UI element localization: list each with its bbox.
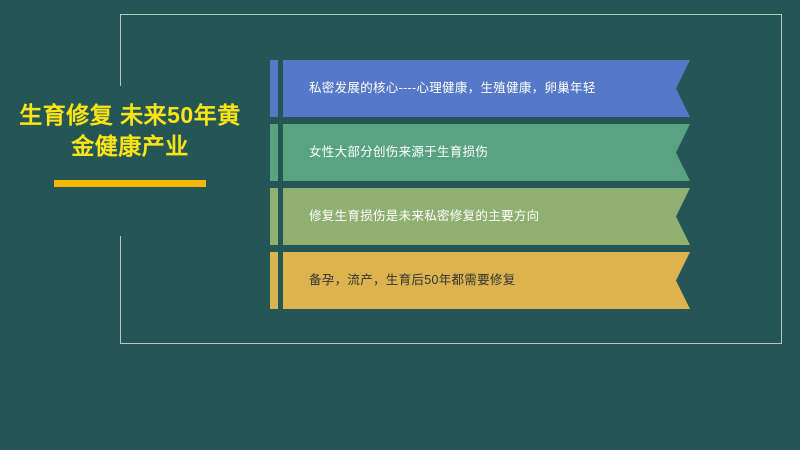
banner-accent-tab — [270, 188, 278, 245]
banner-body[interactable]: 修复生育损伤是未来私密修复的主要方向 — [283, 188, 690, 245]
banner-row[interactable]: 修复生育损伤是未来私密修复的主要方向 — [270, 188, 690, 245]
banner-row[interactable]: 女性大部分创伤来源于生育损伤 — [270, 124, 690, 181]
page-title: 生育修复 未来50年黄金健康产业 — [14, 100, 246, 162]
banner-accent-tab — [270, 124, 278, 181]
banner-accent-tab — [270, 60, 278, 117]
banner-label: 女性大部分创伤来源于生育损伤 — [309, 144, 488, 160]
banner-row[interactable]: 备孕，流产，生育后50年都需要修复 — [270, 252, 690, 309]
banner-label: 修复生育损伤是未来私密修复的主要方向 — [309, 208, 539, 224]
banner-row[interactable]: 私密发展的核心----心理健康，生殖健康，卵巢年轻 — [270, 60, 690, 117]
banner-accent-tab — [270, 252, 278, 309]
slide-canvas: 生育修复 未来50年黄金健康产业 私密发展的核心----心理健康，生殖健康，卵巢… — [0, 0, 800, 450]
banner-body[interactable]: 女性大部分创伤来源于生育损伤 — [283, 124, 690, 181]
banner-label: 私密发展的核心----心理健康，生殖健康，卵巢年轻 — [309, 80, 596, 96]
banner-body[interactable]: 备孕，流产，生育后50年都需要修复 — [283, 252, 690, 309]
title-underline-rule — [54, 180, 206, 187]
title-block: 生育修复 未来50年黄金健康产业 — [14, 100, 246, 187]
banner-body[interactable]: 私密发展的核心----心理健康，生殖健康，卵巢年轻 — [283, 60, 690, 117]
banner-list: 私密发展的核心----心理健康，生殖健康，卵巢年轻 女性大部分创伤来源于生育损伤… — [270, 60, 690, 316]
banner-label: 备孕，流产，生育后50年都需要修复 — [309, 272, 516, 288]
